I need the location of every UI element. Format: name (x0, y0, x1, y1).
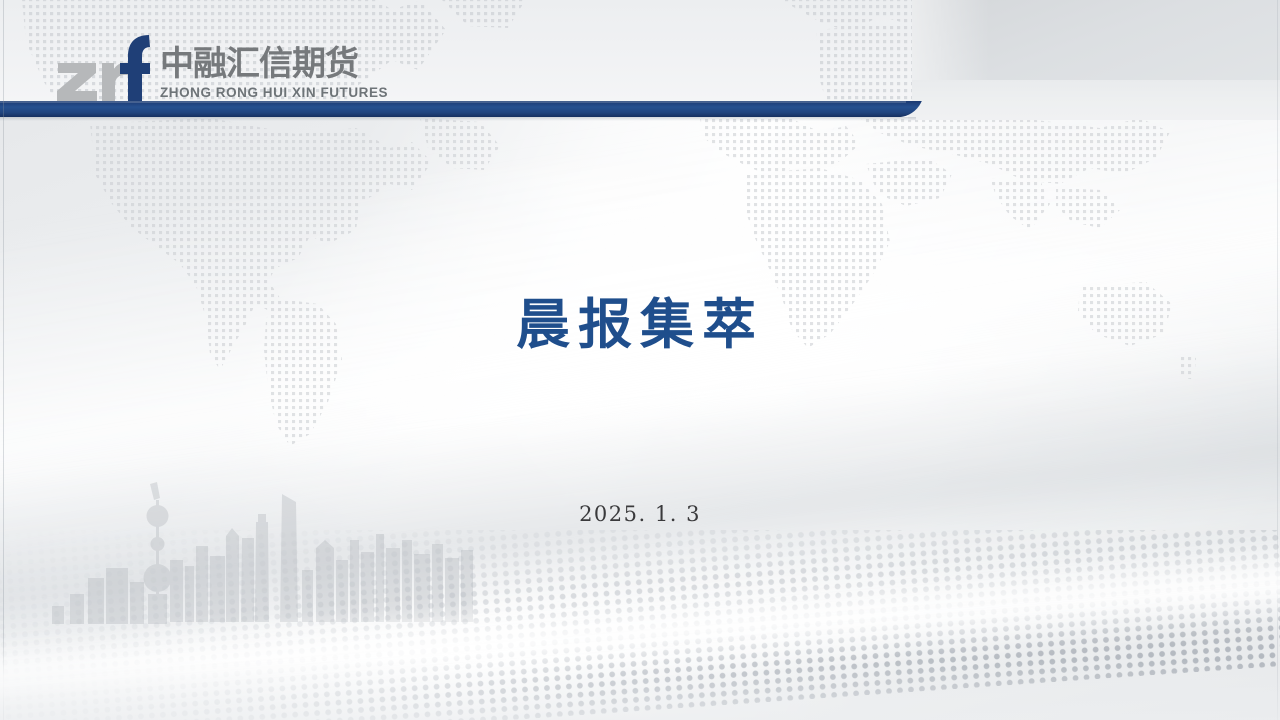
page-title: 晨报集萃 (0, 280, 1280, 359)
company-name-block: 中融汇信期货 ZHONG RONG HUI XIN FUTURES (160, 43, 388, 102)
bottom-fade (0, 660, 1280, 720)
title-slide: 中融汇信期货 ZHONG RONG HUI XIN FUTURES 晨报集萃 2… (0, 0, 1280, 720)
accent-bar (0, 101, 908, 117)
slide-date: 2025. 1. 3 (0, 502, 1280, 526)
accent-bar-highlight (0, 101, 906, 103)
company-name-cn: 中融汇信期货 (160, 43, 378, 83)
svg-text:中融汇信期货: 中融汇信期货 (160, 44, 358, 83)
zrf-logo-mark (56, 35, 150, 101)
header-right-sliver (908, 80, 1280, 120)
company-logo: 中融汇信期货 ZHONG RONG HUI XIN FUTURES (56, 35, 388, 101)
accent-bar-shadow (0, 117, 916, 121)
company-name-en: ZHONG RONG HUI XIN FUTURES (160, 86, 388, 100)
